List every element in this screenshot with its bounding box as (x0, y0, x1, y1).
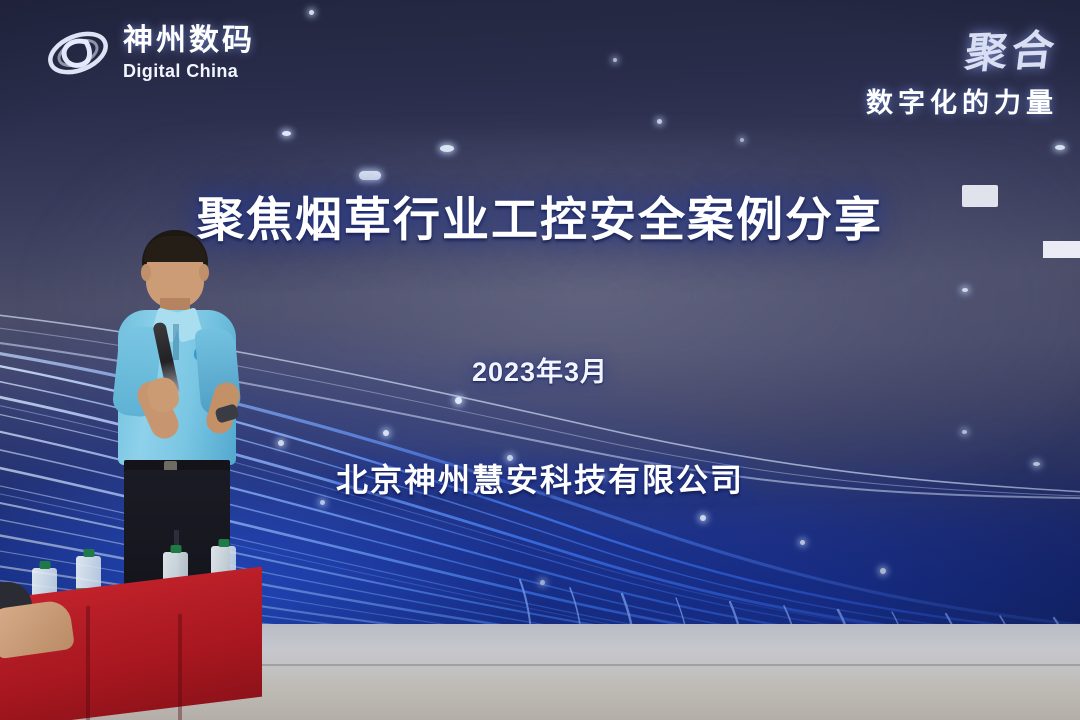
conference-photo: 神州数码 Digital China 聚合 数字化的力量 聚焦烟草行业工控安全案… (0, 0, 1080, 720)
bottle-cap (39, 561, 50, 569)
event-theme-logo: 聚合 数字化的力量 (866, 18, 1058, 120)
theme-tagline: 数字化的力量 (866, 81, 1058, 120)
table-cloth-fold (86, 606, 90, 720)
brand-name-en: Digital China (123, 62, 255, 80)
speaker-ear-left (141, 264, 151, 281)
bottle-cap (170, 545, 181, 553)
digital-china-logo: 神州数码 Digital China (45, 22, 255, 84)
digital-china-swirl-icon (45, 22, 111, 84)
theme-calligraphy: 聚合 (962, 16, 1062, 80)
bottle-cap (218, 539, 229, 547)
bottle-cap (83, 549, 94, 557)
brand-name-cn: 神州数码 (123, 26, 255, 56)
speaker-hair-front (144, 236, 206, 262)
speaker-ear-right (199, 264, 209, 281)
table-cloth-fold (178, 614, 182, 720)
speaker-shirt-placket (173, 324, 179, 360)
